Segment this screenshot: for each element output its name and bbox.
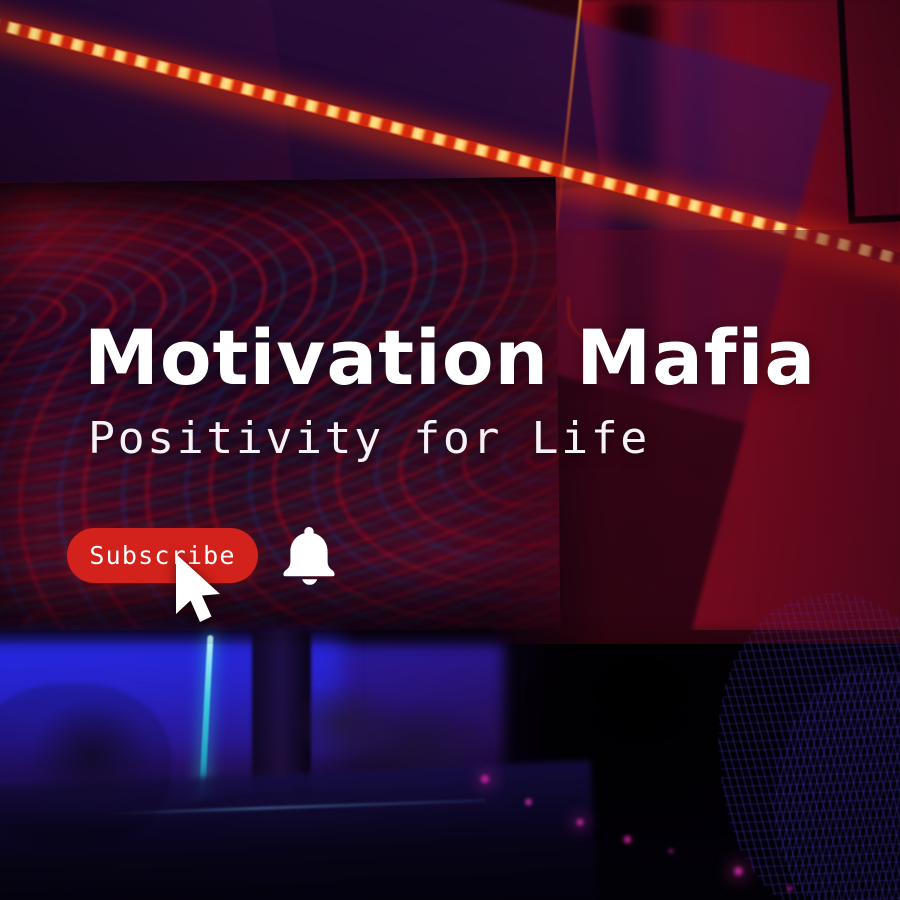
banner-content: Motivation Mafia Positivity for Life Sub…	[0, 0, 900, 900]
channel-title: Motivation Mafia	[84, 318, 816, 398]
notification-bell-icon[interactable]	[280, 524, 338, 586]
channel-tagline: Positivity for Life	[88, 414, 650, 464]
subscribe-button[interactable]: Subscribe	[67, 528, 258, 583]
youtube-channel-banner: Motivation Mafia Positivity for Life Sub…	[0, 0, 900, 900]
subscribe-button-label: Subscribe	[89, 541, 235, 570]
